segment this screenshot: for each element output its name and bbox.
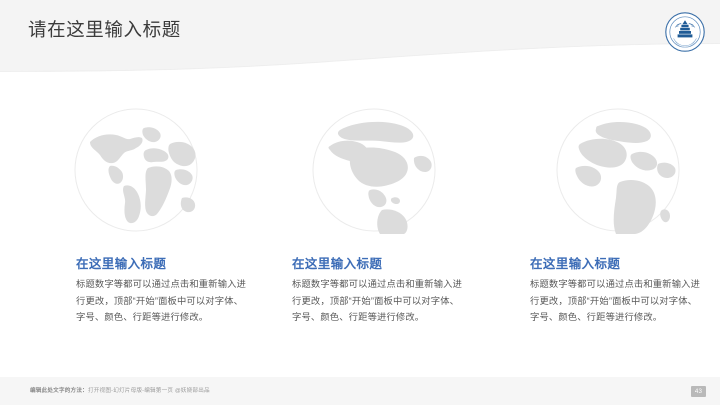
column-body-text: 标题数字等都可以通过点击和重新输入进行更改，顶部“开始”面板中可以对字体、字号、… [76, 276, 248, 326]
footer-note-text: 打开视图-幻灯片母版-编辑第一页 @妖娆部出品 [88, 388, 210, 394]
university-crest-logo [664, 11, 706, 53]
column-heading: 在这里输入标题 [530, 256, 620, 273]
footer-note: 编辑此处文字的方法：打开视图-幻灯片母版-编辑第一页 @妖娆部出品 [30, 387, 210, 396]
slide-canvas: 请在这里输入标题 [0, 0, 720, 405]
globe-icon [72, 106, 200, 234]
column-body-text: 标题数字等都可以通过点击和重新输入进行更改，顶部“开始”面板中可以对字体、字号、… [292, 276, 464, 326]
content-column: 在这里输入标题 标题数字等都可以通过点击和重新输入进行更改，顶部“开始”面板中可… [480, 96, 720, 346]
globe-icon [554, 106, 682, 234]
column-heading: 在这里输入标题 [292, 256, 382, 273]
content-column: 在这里输入标题 标题数字等都可以通过点击和重新输入进行更改，顶部“开始”面板中可… [0, 96, 240, 346]
page-number-badge: 43 [691, 386, 706, 397]
globe-icon [310, 106, 438, 234]
footer-note-label: 编辑此处文字的方法： [30, 388, 88, 394]
content-column: 在这里输入标题 标题数字等都可以通过点击和重新输入进行更改，顶部“开始”面板中可… [240, 96, 480, 346]
column-heading: 在这里输入标题 [76, 256, 166, 273]
content-columns: 在这里输入标题 标题数字等都可以通过点击和重新输入进行更改，顶部“开始”面板中可… [0, 96, 720, 346]
column-body-text: 标题数字等都可以通过点击和重新输入进行更改，顶部“开始”面板中可以对字体、字号、… [530, 276, 702, 326]
page-title: 请在这里输入标题 [28, 17, 181, 43]
